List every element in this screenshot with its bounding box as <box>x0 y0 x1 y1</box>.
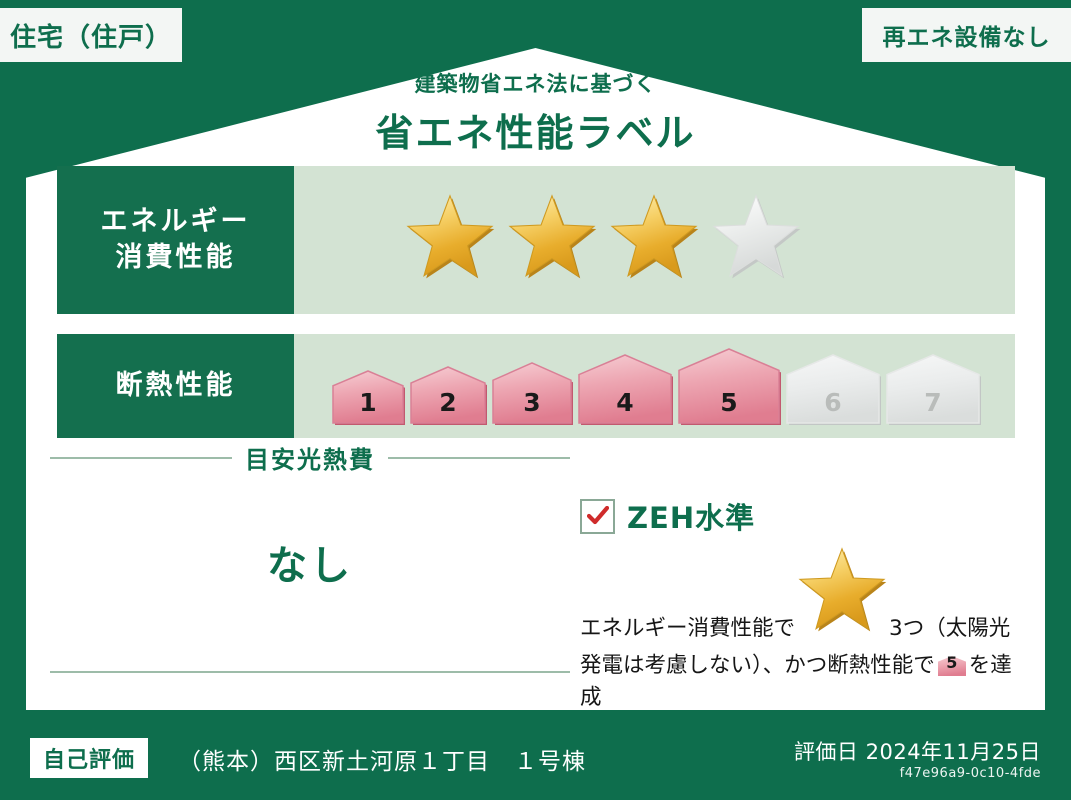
insulation-performance-row: 断熱性能 1234567 <box>57 334 1015 438</box>
star-filled-icon <box>404 194 496 286</box>
title-main: 省エネ性能ラベル <box>0 102 1071 157</box>
zeh-description: エネルギー消費性能で3つ（太陽光発電は考慮しない）、かつ断熱性能で5を達成 <box>580 547 1020 715</box>
insulation-grade-number: 5 <box>677 388 781 417</box>
evaluation-id: f47e96a9-0c10-4fde <box>900 766 1041 781</box>
insulation-grade-number: 2 <box>409 388 487 417</box>
property-address: （熊本）西区新土河原１丁目 １号棟 <box>178 742 586 776</box>
insulation-grade-7: 7 <box>885 353 981 425</box>
utility-cost-header: 目安光熱費 <box>50 440 570 475</box>
utility-cost-section: 目安光熱費 なし <box>50 440 570 673</box>
star-empty-icon <box>710 194 802 286</box>
insulation-grade-number: 7 <box>885 388 981 417</box>
inline-grade-number: 5 <box>937 651 967 675</box>
energy-performance-label: エネルギー 消費性能 <box>57 166 294 314</box>
utility-cost-value: なし <box>50 533 570 591</box>
insulation-label-text: 断熱性能 <box>116 368 236 404</box>
energy-label-line2: 消費性能 <box>116 240 236 276</box>
zeh-header: ZEH水準 <box>580 495 1020 537</box>
star-filled-icon <box>506 194 598 286</box>
insulation-performance-label: 断熱性能 <box>57 334 294 438</box>
energy-performance-body <box>294 166 1015 314</box>
label-footer: 自己評価 （熊本）西区新土河原１丁目 １号棟 評価日 2024年11月25日 f… <box>0 710 1071 800</box>
utility-bottom-divider <box>50 671 570 673</box>
building-type-tag: 住宅（住戸） <box>0 8 182 62</box>
zeh-title: ZEH水準 <box>627 495 755 537</box>
insulation-performance-body: 1234567 <box>294 334 1015 438</box>
divider-left <box>50 457 232 459</box>
title-subtitle: 建築物省エネ法に基づく <box>0 68 1071 98</box>
insulation-grade-4: 4 <box>577 353 673 425</box>
energy-performance-row: エネルギー 消費性能 <box>57 166 1015 314</box>
insulation-grade-number: 1 <box>331 388 405 417</box>
insulation-grade-2: 2 <box>409 365 487 425</box>
insulation-grade-3: 3 <box>491 361 573 425</box>
energy-label-line1: エネルギー <box>101 204 251 240</box>
zeh-section: ZEH水準 エネルギー消費性能で3つ（太陽光発電は考慮しない）、かつ断熱性能で5… <box>580 495 1020 715</box>
utility-cost-caption: 目安光熱費 <box>245 440 375 475</box>
divider-right <box>388 457 570 459</box>
zeh-checkbox[interactable] <box>580 499 615 534</box>
inline-grade-house-icon: 5 <box>937 655 967 677</box>
evaluation-type-badge: 自己評価 <box>30 738 148 778</box>
insulation-grade-6: 6 <box>785 353 881 425</box>
label-title-block: 建築物省エネ法に基づく 省エネ性能ラベル <box>0 68 1071 157</box>
inline-star-icon <box>796 620 888 645</box>
check-icon <box>587 506 609 526</box>
insulation-grade-scale: 1234567 <box>331 347 981 425</box>
insulation-grade-5: 5 <box>677 347 781 425</box>
insulation-grade-number: 3 <box>491 388 573 417</box>
zeh-desc-part1: エネルギー消費性能で <box>580 616 795 641</box>
insulation-grade-1: 1 <box>331 369 405 425</box>
star-rating <box>404 194 802 286</box>
star-filled-icon <box>608 194 700 286</box>
insulation-grade-number: 6 <box>785 388 881 417</box>
renewable-equipment-tag: 再エネ設備なし <box>862 8 1071 62</box>
evaluation-date: 評価日 2024年11月25日 <box>794 736 1041 766</box>
insulation-grade-number: 4 <box>577 388 673 417</box>
star-filled-icon <box>796 547 888 639</box>
